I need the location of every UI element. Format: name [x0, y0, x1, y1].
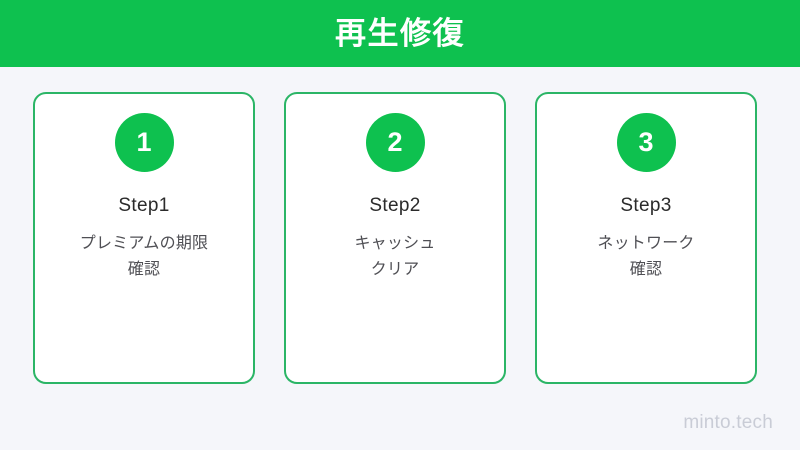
step-title-1: Step1	[118, 196, 169, 215]
step-desc-2-line-2: クリア	[300, 257, 490, 283]
step-title-3: Step3	[620, 196, 671, 215]
step-badge-2: 2	[366, 113, 425, 172]
step-badge-1: 1	[115, 113, 174, 172]
step-desc-1-line-1: プレミアムの期限	[49, 231, 239, 257]
step-desc-2-line-1: キャッシュ	[300, 231, 490, 257]
step-desc-1: プレミアムの期限 確認	[49, 231, 239, 283]
header-bar: 再生修復	[0, 0, 800, 67]
watermark: minto.tech	[683, 413, 773, 432]
step-card-1[interactable]: 1 Step1 プレミアムの期限 確認	[33, 92, 255, 384]
step-desc-3-line-2: 確認	[551, 257, 741, 283]
step-title-2: Step2	[369, 196, 420, 215]
slide-root: 再生修復 1 Step1 プレミアムの期限 確認 2 Step2 キャッシュ ク…	[0, 0, 800, 450]
step-number-3: 3	[638, 129, 653, 156]
steps-row: 1 Step1 プレミアムの期限 確認 2 Step2 キャッシュ クリア 3 …	[33, 92, 757, 384]
step-desc-2: キャッシュ クリア	[300, 231, 490, 283]
step-desc-1-line-2: 確認	[49, 257, 239, 283]
step-number-1: 1	[136, 129, 151, 156]
step-badge-3: 3	[617, 113, 676, 172]
step-card-3[interactable]: 3 Step3 ネットワーク 確認	[535, 92, 757, 384]
step-desc-3: ネットワーク 確認	[551, 231, 741, 283]
step-card-2[interactable]: 2 Step2 キャッシュ クリア	[284, 92, 506, 384]
step-number-2: 2	[387, 129, 402, 156]
step-desc-3-line-1: ネットワーク	[551, 231, 741, 257]
page-title: 再生修復	[335, 18, 465, 49]
